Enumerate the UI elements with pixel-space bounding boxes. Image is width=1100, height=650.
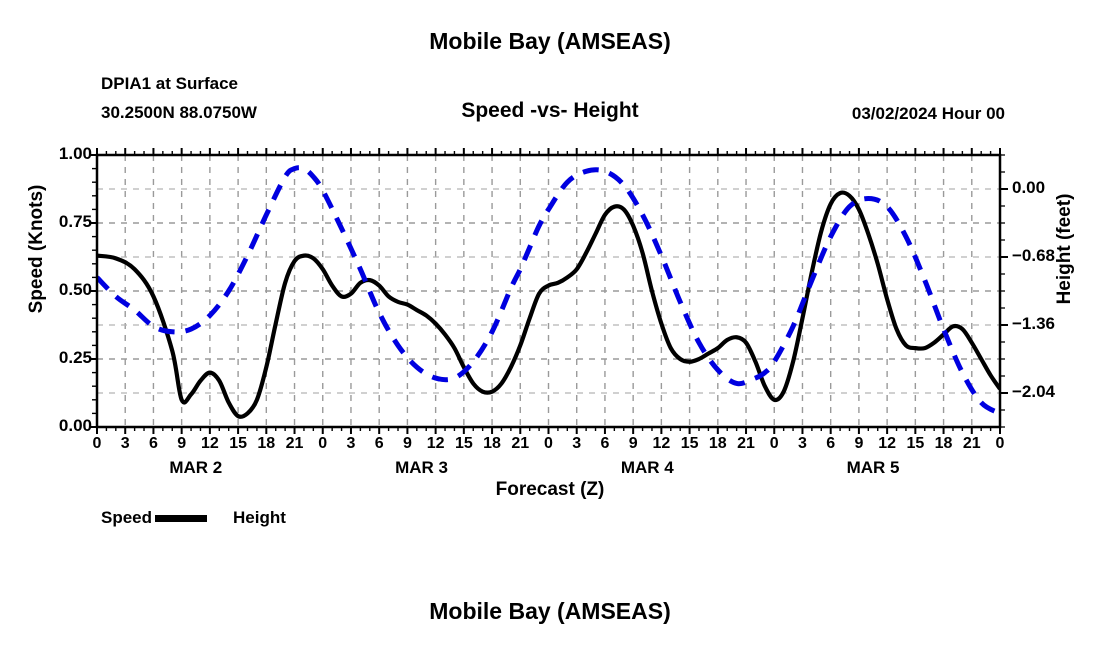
y-tick-left: 0.50 <box>59 280 92 300</box>
x-tick: 18 <box>931 435 957 453</box>
x-tick: 12 <box>423 435 449 453</box>
x-tick: 6 <box>818 435 844 453</box>
footer-title: Mobile Bay (AMSEAS) <box>0 598 1100 625</box>
y-tick-right: −2.04 <box>1012 382 1055 402</box>
x-tick: 18 <box>479 435 505 453</box>
y-tick-right: −0.68 <box>1012 246 1055 266</box>
x-tick: 3 <box>789 435 815 453</box>
x-tick: 9 <box>394 435 420 453</box>
x-day-label: MAR 4 <box>587 458 707 478</box>
y-tick-left: 1.00 <box>59 144 92 164</box>
legend-label-speed: Speed <box>101 508 152 528</box>
grid-lines <box>97 155 1000 427</box>
page-title: Mobile Bay (AMSEAS) <box>0 28 1100 55</box>
x-tick: 0 <box>987 435 1013 453</box>
y-tick-left: 0.00 <box>59 416 92 436</box>
x-tick: 15 <box>225 435 251 453</box>
run-timestamp: 03/02/2024 Hour 00 <box>852 104 1005 124</box>
chart-figure: Mobile Bay (AMSEAS) DPIA1 at Surface 30.… <box>0 0 1100 650</box>
x-tick: 9 <box>620 435 646 453</box>
y-tick-left: 0.25 <box>59 348 92 368</box>
x-tick: 12 <box>648 435 674 453</box>
x-tick: 0 <box>84 435 110 453</box>
plot-area <box>97 155 1000 427</box>
x-tick: 15 <box>451 435 477 453</box>
y-tick-left: 0.75 <box>59 212 92 232</box>
y-tick-right: −1.36 <box>1012 314 1055 334</box>
x-tick: 9 <box>169 435 195 453</box>
chart-svg <box>97 155 1000 427</box>
y-tick-right: 0.00 <box>1012 178 1045 198</box>
x-day-label: MAR 2 <box>136 458 256 478</box>
chart-legend: Speed Height <box>101 508 288 528</box>
x-tick: 0 <box>761 435 787 453</box>
x-day-label: MAR 3 <box>362 458 482 478</box>
x-tick: 21 <box>733 435 759 453</box>
legend-label-height: Height <box>233 508 286 528</box>
x-tick: 3 <box>564 435 590 453</box>
x-tick: 6 <box>140 435 166 453</box>
y-axis-label-right: Height (feet) <box>1054 149 1076 349</box>
legend-swatch-height-icon <box>286 509 288 527</box>
x-tick: 12 <box>874 435 900 453</box>
x-axis-label: Forecast (Z) <box>0 479 1100 501</box>
x-tick: 21 <box>959 435 985 453</box>
x-tick: 15 <box>902 435 928 453</box>
x-tick: 3 <box>338 435 364 453</box>
x-tick: 6 <box>592 435 618 453</box>
x-tick: 12 <box>197 435 223 453</box>
x-tick: 18 <box>705 435 731 453</box>
x-tick: 21 <box>507 435 533 453</box>
station-name: DPIA1 at Surface <box>101 74 238 94</box>
legend-swatch-speed-icon <box>155 515 207 522</box>
x-tick: 15 <box>677 435 703 453</box>
y-axis-label-left: Speed (Knots) <box>26 149 48 349</box>
x-tick: 0 <box>310 435 336 453</box>
x-tick: 0 <box>536 435 562 453</box>
x-tick: 21 <box>282 435 308 453</box>
x-day-label: MAR 5 <box>813 458 933 478</box>
x-tick: 18 <box>253 435 279 453</box>
x-tick: 9 <box>846 435 872 453</box>
x-tick: 3 <box>112 435 138 453</box>
x-tick: 6 <box>366 435 392 453</box>
